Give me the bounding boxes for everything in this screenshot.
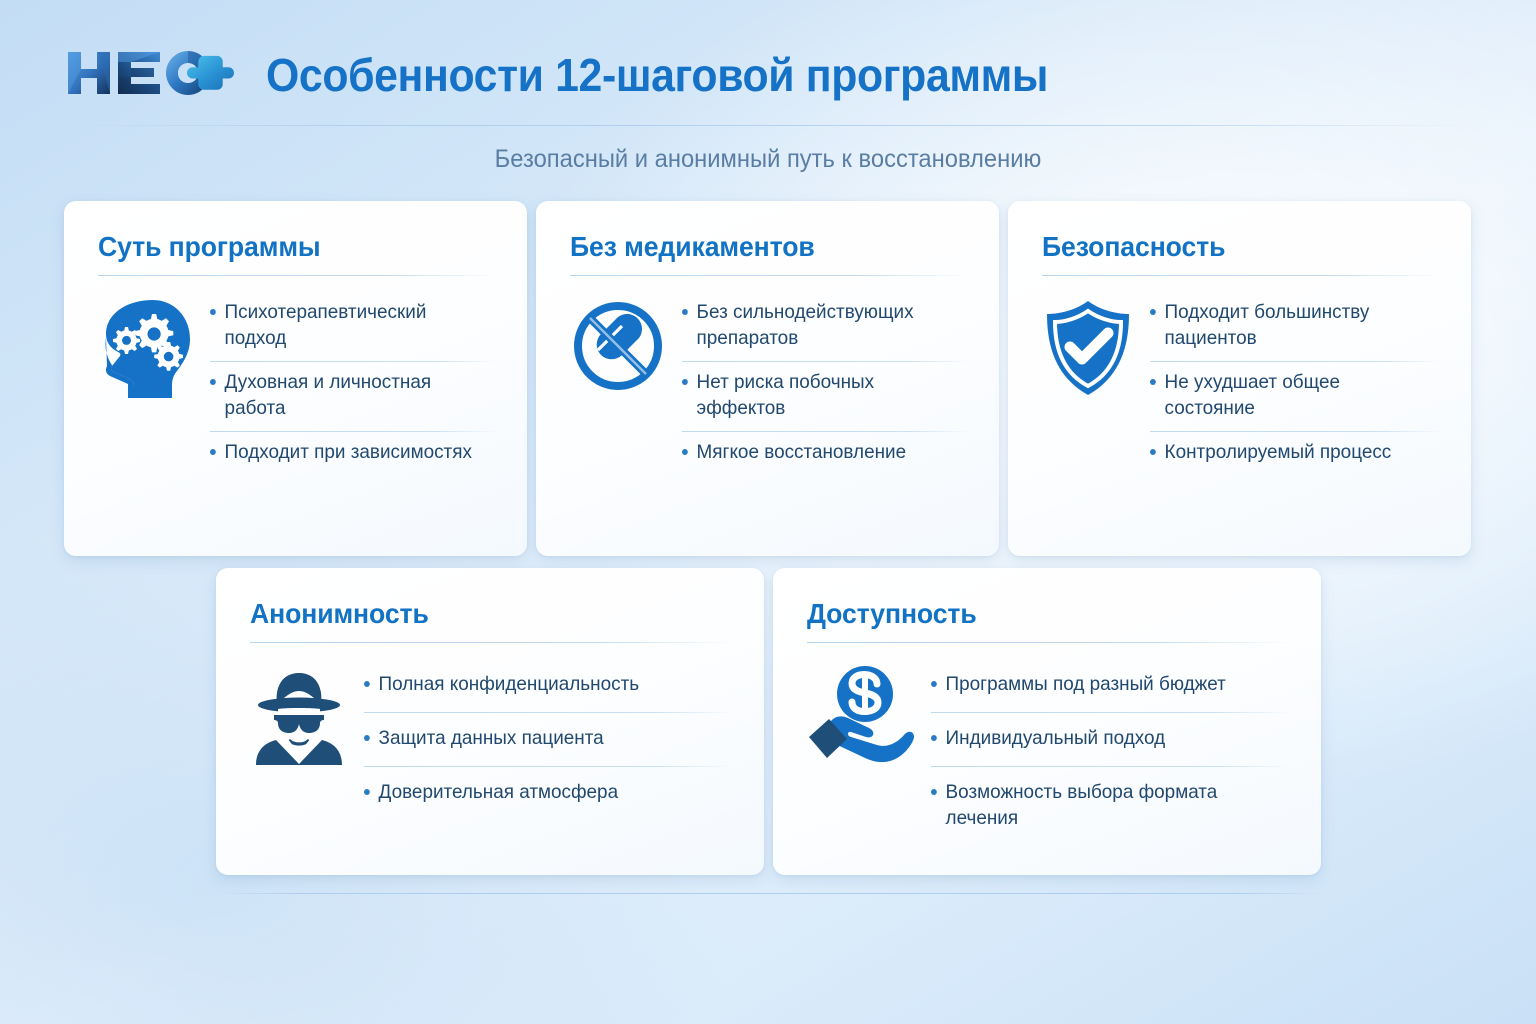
list-item: Без сильнодействующих препаратов (682, 292, 960, 361)
bullet-dot-icon (1150, 309, 1156, 315)
bullet-dot-icon (1150, 449, 1156, 455)
bullet-dot-icon (364, 789, 370, 795)
list-item-text: Подходит при зависимостях (225, 440, 472, 466)
list-item: Контролируемый процесс (1150, 432, 1432, 475)
list-item: Не ухудшает общее состояние (1150, 362, 1432, 431)
bullet-dot-icon (364, 681, 370, 687)
list-item-text: Защита данных пациента (379, 726, 604, 752)
bullet-dot-icon (682, 379, 688, 385)
card-title: Суть программы (98, 231, 477, 263)
bullet-dot-icon (682, 449, 688, 455)
neo-plus-logo-icon (64, 42, 242, 107)
list-item: Программы под разный бюджет (931, 659, 1280, 712)
card-title-divider (250, 642, 734, 643)
list-item-text: Подходит большинству пациентов (1165, 300, 1433, 352)
card-sut-programmy[interactable]: Суть программы (64, 201, 527, 556)
card-dostupnost[interactable]: Доступность (773, 568, 1321, 875)
list-item: Защита данных пациента (364, 713, 723, 766)
list-item-text: Индивидуальный подход (946, 726, 1166, 752)
list-item-text: Нет риска побочных эффектов (697, 370, 961, 422)
card-title-divider (1042, 275, 1441, 276)
card-title-divider (570, 275, 969, 276)
head-gears-icon (98, 292, 194, 405)
bullet-list: Без сильнодействующих препаратов Нет рис… (682, 292, 969, 475)
list-item-text: Без сильнодействующих препаратов (697, 300, 961, 352)
bullet-dot-icon (210, 309, 216, 315)
list-item-text: Не ухудшает общее состояние (1165, 370, 1433, 422)
list-item: Индивидуальный подход (931, 713, 1280, 766)
footer-divider (216, 893, 1326, 894)
list-item: Доверительная атмосфера (364, 767, 723, 820)
bullet-dot-icon (1150, 379, 1156, 385)
page-title: Особенности 12-шаговой программы (266, 48, 1048, 102)
card-title-divider (807, 642, 1291, 643)
list-item: Подходит большинству пациентов (1150, 292, 1432, 361)
incognito-spy-icon (250, 659, 348, 772)
list-item-text: Психотерапевтический подход (225, 300, 489, 352)
card-title: Безопасность (1042, 231, 1421, 263)
shield-check-icon (1042, 292, 1134, 403)
list-item: Полная конфиденциальность (364, 659, 723, 712)
page-header: Особенности 12-шаговой программы Безопас… (0, 0, 1536, 126)
list-item-text: Возможность выбора формата лечения (946, 780, 1281, 832)
bullet-list: Полная конфиденциальность Защита данных … (364, 659, 734, 820)
list-item-text: Полная конфиденциальность (379, 672, 640, 698)
bullet-dot-icon (931, 789, 937, 795)
cards-row-top: Суть программы (64, 201, 1471, 556)
list-item-text: Контролируемый процесс (1165, 440, 1392, 466)
header-divider (62, 125, 1474, 126)
cards-row-bottom: Анонимность (216, 568, 1321, 875)
bullet-dot-icon (210, 449, 216, 455)
hand-coin-icon (807, 659, 915, 770)
card-title: Доступность (807, 598, 1267, 630)
list-item-text: Духовная и личностная работа (225, 370, 489, 422)
list-item-text: Доверительная атмосфера (379, 780, 619, 806)
list-item: Психотерапевтический подход (210, 292, 488, 361)
bullet-list: Программы под разный бюджет Индивидуальн… (931, 659, 1291, 846)
card-bezopasnost[interactable]: Безопасность Подходит большинству пациен… (1008, 201, 1471, 556)
list-item: Мягкое восстановление (682, 432, 960, 475)
card-title: Без медикаментов (570, 231, 949, 263)
bullet-list: Подходит большинству пациентов Не ухудша… (1150, 292, 1441, 475)
bullet-dot-icon (682, 309, 688, 315)
card-title: Анонимность (250, 598, 710, 630)
list-item: Возможность выбора формата лечения (931, 767, 1280, 846)
list-item: Подходит при зависимостях (210, 432, 488, 475)
bullet-dot-icon (210, 379, 216, 385)
bullet-list: Психотерапевтический подход Духовная и л… (210, 292, 497, 475)
page-subtitle: Безопасный и анонимный путь к восстановл… (38, 145, 1497, 174)
list-item-text: Программы под разный бюджет (946, 672, 1226, 698)
bullet-dot-icon (931, 681, 937, 687)
card-title-divider (98, 275, 497, 276)
bullet-dot-icon (931, 735, 937, 741)
list-item: Нет риска побочных эффектов (682, 362, 960, 431)
card-anonimnost[interactable]: Анонимность (216, 568, 764, 875)
no-pills-icon (570, 292, 666, 399)
card-bez-medikamentov[interactable]: Без медикаментов Без сильнодействующих п (536, 201, 999, 556)
bullet-dot-icon (364, 735, 370, 741)
list-item-text: Мягкое восстановление (697, 440, 907, 466)
list-item: Духовная и личностная работа (210, 362, 488, 431)
